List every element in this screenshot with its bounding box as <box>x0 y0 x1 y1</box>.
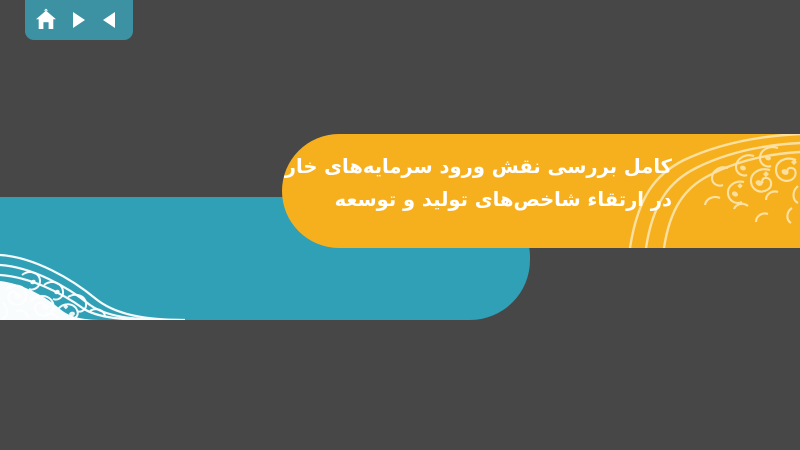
next-button[interactable] <box>64 6 92 34</box>
right-triangle-icon <box>67 9 89 31</box>
navigation-bar <box>25 0 133 40</box>
orange-title-banner: کامل بررسی نقش ورود سرمایه‌های خارجی در … <box>282 134 800 248</box>
title-line-1: کامل بررسی نقش ورود سرمایه‌های خارجی <box>322 150 672 183</box>
left-triangle-icon <box>99 9 121 31</box>
previous-button[interactable] <box>96 6 124 34</box>
slide-canvas: کامل بررسی نقش ورود سرمایه‌های خارجی در … <box>0 0 800 450</box>
home-button[interactable] <box>32 6 60 34</box>
slide-title: کامل بررسی نقش ورود سرمایه‌های خارجی در … <box>322 150 672 216</box>
title-line-2: در ارتقاء شاخص‌های تولید و توسعه <box>322 183 672 216</box>
arabesque-corner-ornament-teal <box>0 197 185 320</box>
home-icon <box>34 8 58 32</box>
